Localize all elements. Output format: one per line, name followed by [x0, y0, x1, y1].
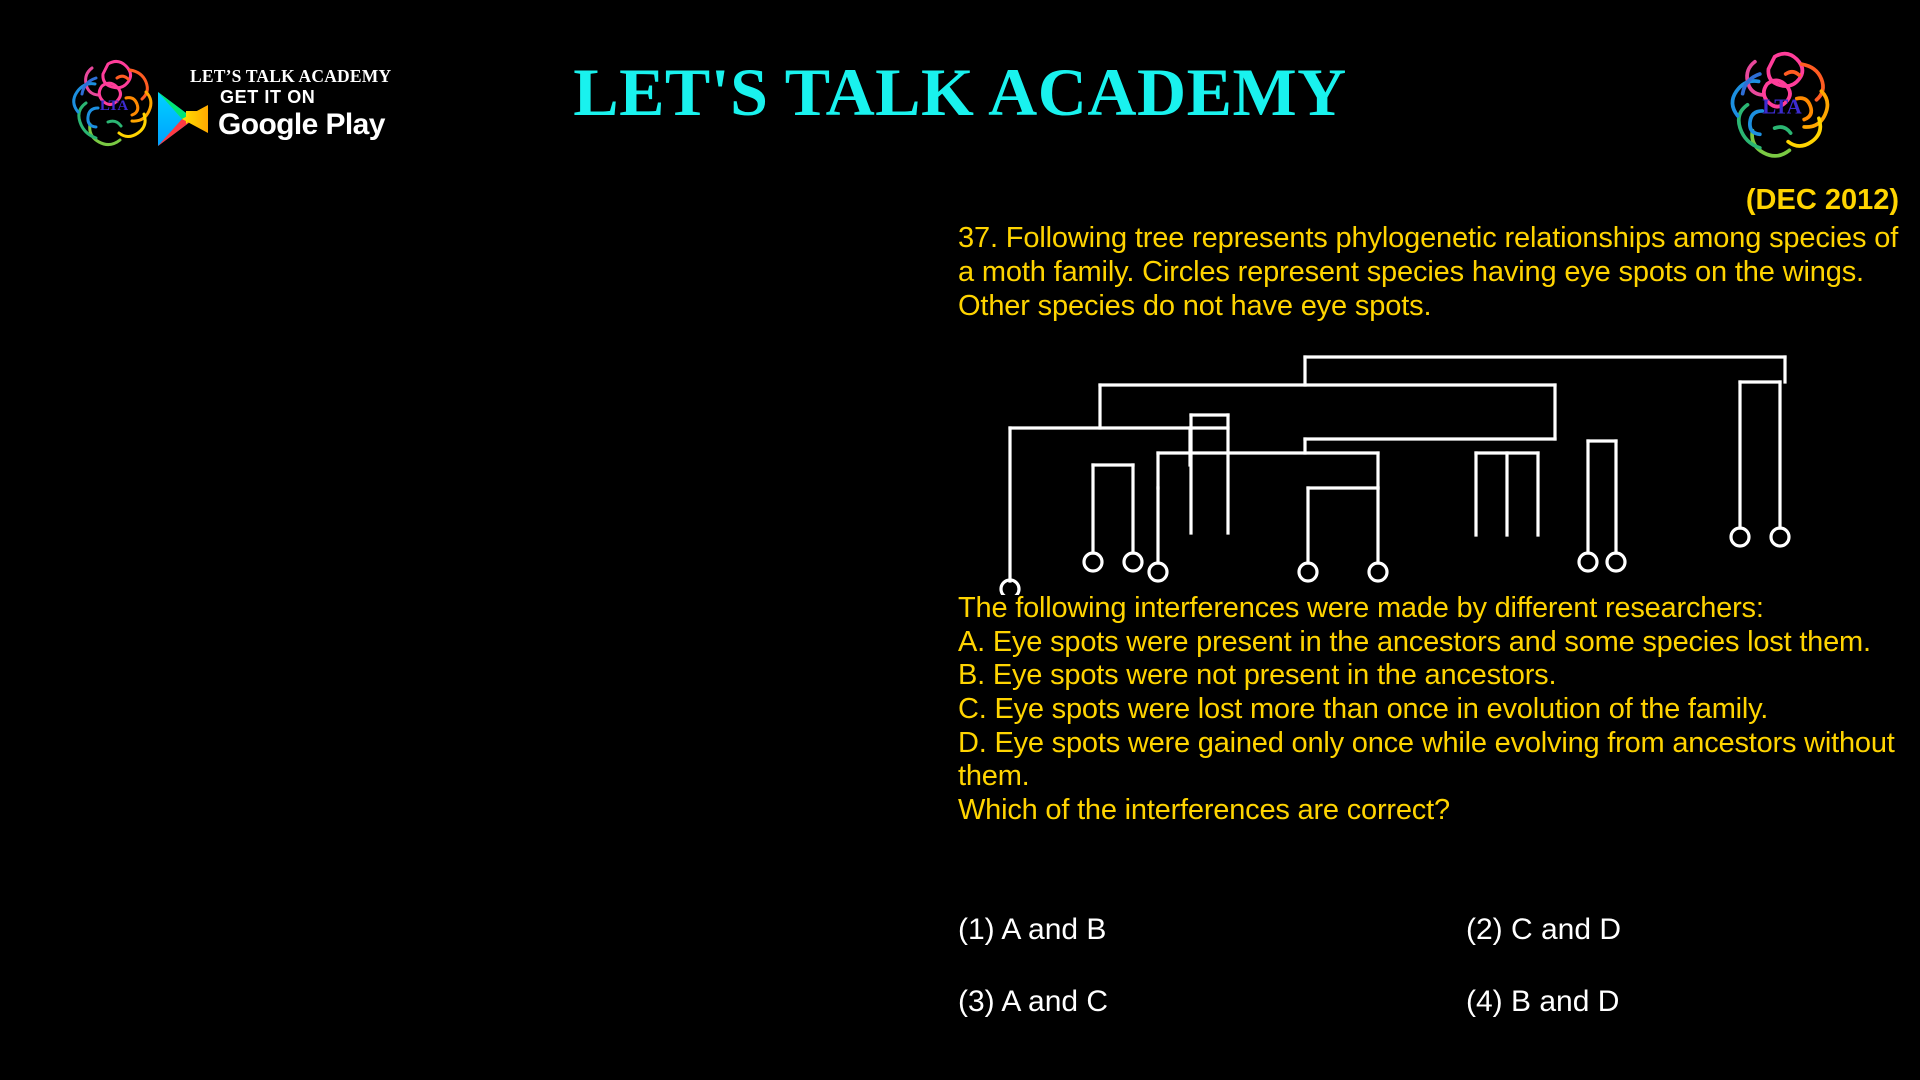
exam-year-badge: (DEC 2012) [958, 185, 1903, 215]
option-4[interactable]: (4) B and D [1466, 984, 1846, 1020]
inference-statement-a: A. Eye spots were present in the ancesto… [958, 626, 1918, 660]
answer-options: (1) A and B (2) C and D (3) A and C (4) … [958, 912, 1858, 1056]
inference-intro: The following interferences were made by… [958, 592, 1918, 626]
svg-text:LTA: LTA [1762, 94, 1802, 118]
inference-statement-c: C. Eye spots were lost more than once in… [958, 693, 1918, 727]
inference-statement-d: D. Eye spots were gained only once while… [958, 727, 1918, 794]
question-prompt: Which of the interferences are correct? [958, 794, 1918, 828]
phylogenetic-tree-diagram [958, 345, 1858, 595]
lta-molecule-logo: LTA [1718, 42, 1846, 170]
option-2[interactable]: (2) C and D [1466, 912, 1846, 948]
option-3[interactable]: (3) A and C [958, 984, 1466, 1020]
option-row-1: (1) A and B (2) C and D [958, 912, 1858, 948]
option-1[interactable]: (1) A and B [958, 912, 1466, 948]
inference-block: The following interferences were made by… [958, 592, 1918, 827]
page-header: LTA LET’S TALK ACADEMY [0, 0, 1920, 175]
option-row-2: (3) A and C (4) B and D [958, 984, 1858, 1020]
question-stem: 37. Following tree represents phylogenet… [958, 222, 1903, 323]
inference-statement-b: B. Eye spots were not present in the anc… [958, 659, 1918, 693]
question-column: (DEC 2012) 37. Following tree represents… [958, 185, 1903, 323]
page-title: LET'S TALK ACADEMY [0, 58, 1920, 126]
